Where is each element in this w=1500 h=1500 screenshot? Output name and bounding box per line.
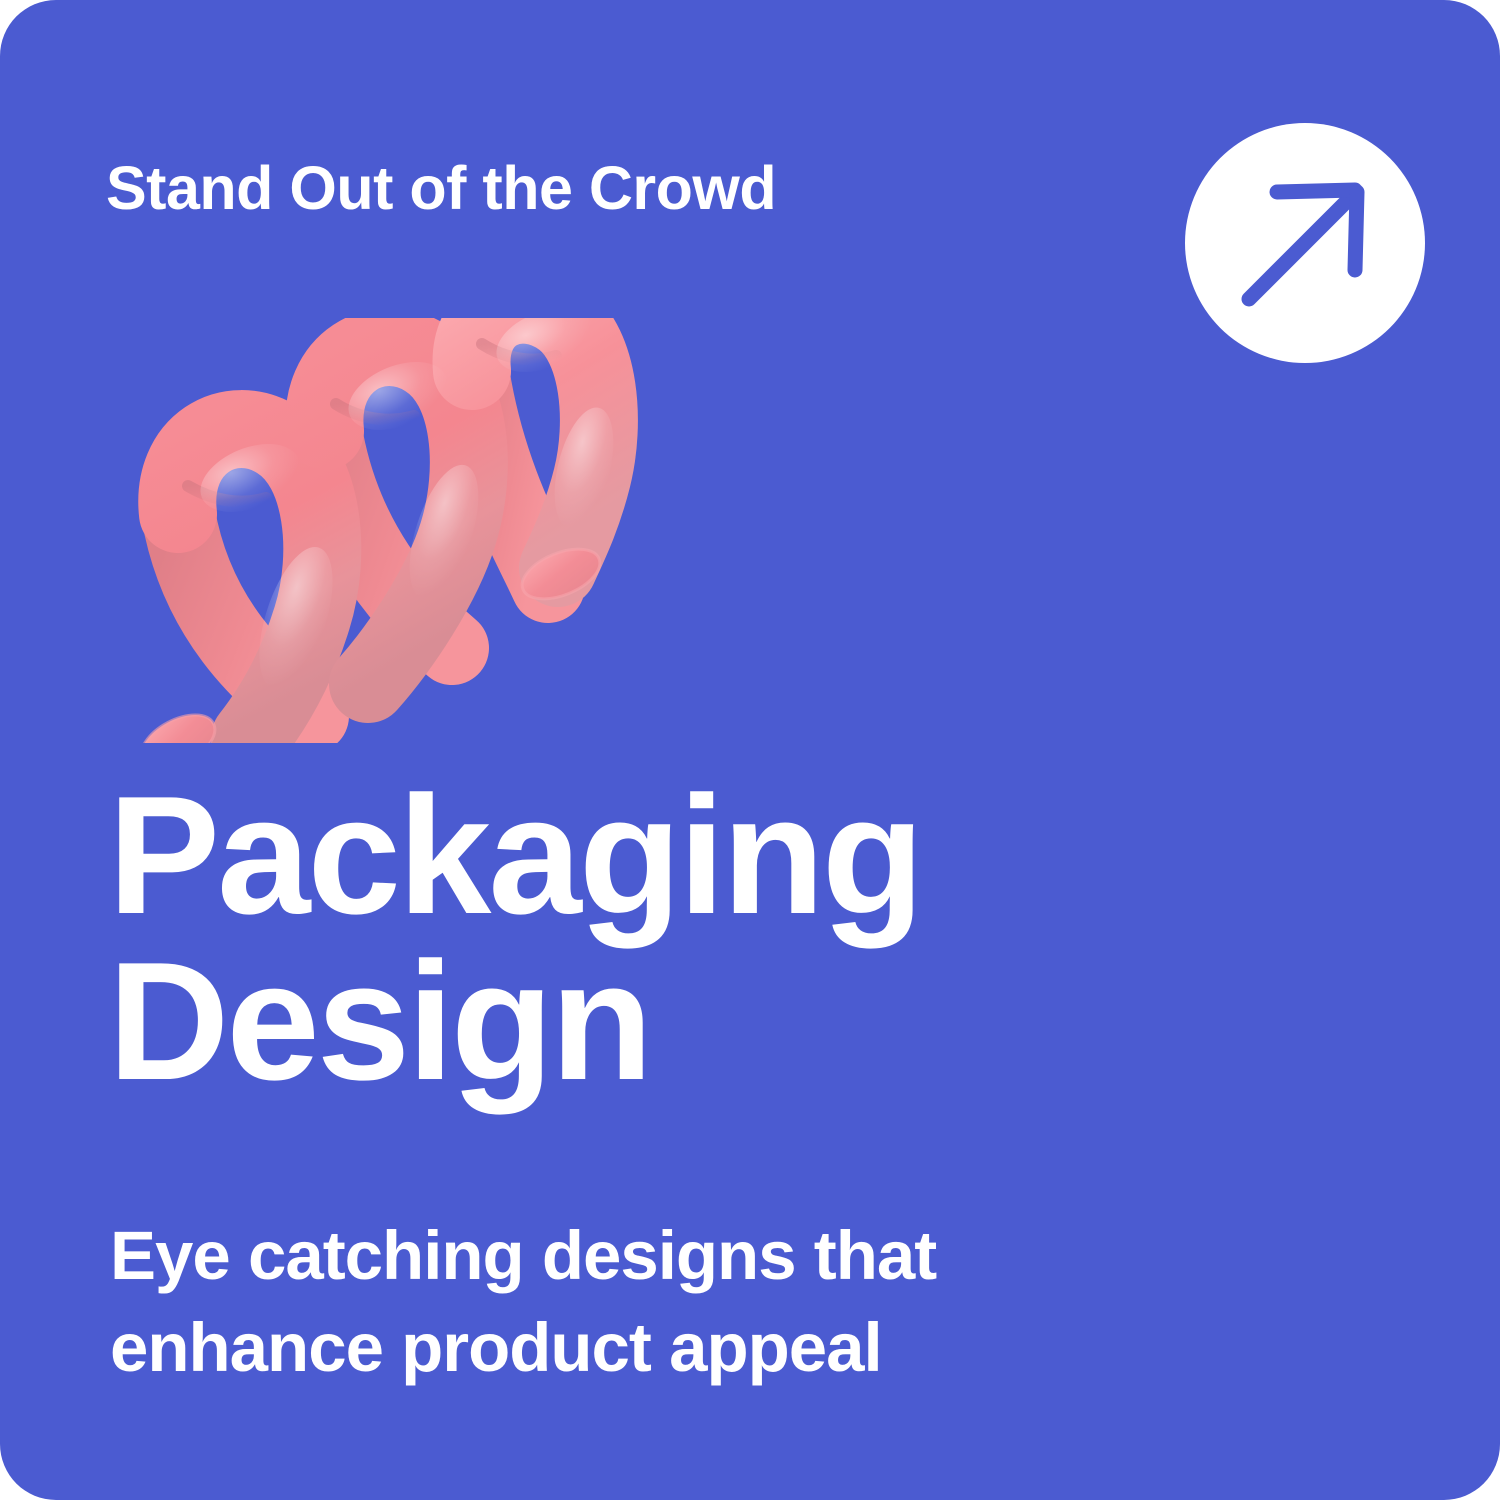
headline: Packaging Design: [108, 772, 1208, 1105]
subtitle: Eye catching designs that enhance produc…: [110, 1210, 1220, 1394]
arrow-cta-button[interactable]: [1185, 123, 1425, 363]
spiral-cap-left: [132, 704, 223, 743]
3d-spiral-graphic: [100, 318, 670, 743]
subtitle-line-1: Eye catching designs that: [110, 1210, 1220, 1302]
eyebrow-text: Stand Out of the Crowd: [106, 158, 1106, 219]
promo-card: Stand Out of the Crowd: [0, 0, 1500, 1500]
headline-line-2: Design: [108, 938, 1208, 1104]
headline-line-1: Packaging: [108, 772, 1208, 938]
subtitle-line-2: enhance product appeal: [110, 1302, 1220, 1394]
